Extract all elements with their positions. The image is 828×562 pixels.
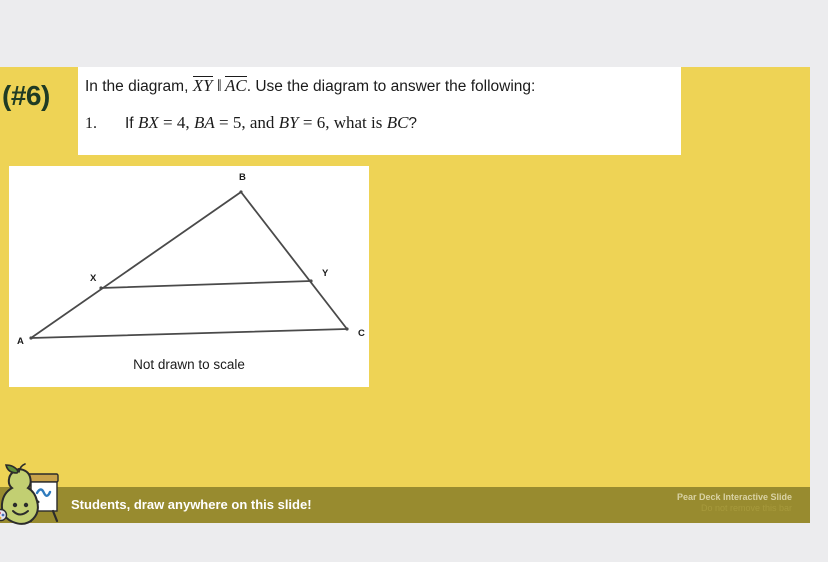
prompt-line-1: In the diagram, XY ‖ AC. Use the diagram… [85, 76, 535, 96]
prompt-line-2: 1.If BX = 4, BA = 5, and BY = 6, what is… [85, 113, 417, 133]
diagram-caption: Not drawn to scale [9, 357, 369, 372]
pear-deck-branding: Pear Deck Interactive Slide Do not remov… [677, 492, 792, 515]
pear-deck-brand-title: Pear Deck Interactive Slide [677, 492, 792, 503]
given-ba: BA [194, 113, 215, 132]
diagram-vertex-dot-x [99, 286, 102, 289]
diagram-vertex-dot-y [309, 279, 312, 282]
diagram-label-c: C [358, 328, 365, 339]
prompt-lead-in: In the diagram, [85, 78, 188, 95]
given-bx-value: = 4, [163, 113, 190, 132]
given-by-value: = 6, what is [303, 113, 382, 132]
question-mark: ? [408, 115, 417, 132]
pear-mascot-logo [0, 463, 71, 525]
diagram-label-x: X [90, 273, 97, 284]
target-bc: BC [387, 113, 409, 132]
given-bx: BX [138, 113, 159, 132]
segment-ac: AC [225, 76, 247, 95]
given-by: BY [279, 113, 299, 132]
question-number: (#6) [2, 82, 78, 110]
diagram-edge-xy [101, 281, 311, 288]
pear-deck-bar: Students, draw anywhere on this slide! P… [0, 487, 810, 523]
question-if: If [125, 115, 134, 132]
diagram-vertex-dot-a [29, 336, 32, 339]
question-prompt-card: In the diagram, XY ‖ AC. Use the diagram… [78, 67, 681, 155]
prompt-lead-out: . Use the diagram to answer the followin… [247, 78, 536, 95]
diagram-edge-ab [31, 192, 241, 338]
pear-character-icon [0, 464, 38, 524]
given-ba-value: = 5, and [219, 113, 274, 132]
diagram-edge-ac [31, 329, 347, 338]
pear-deck-message: Students, draw anywhere on this slide! [71, 497, 312, 512]
triangle-diagram: ABCXY [9, 166, 369, 356]
list-number: 1. [85, 115, 125, 133]
diagram-edge-bc [241, 192, 347, 329]
diagram-label-a: A [17, 336, 24, 347]
diagram-vertex-dot-b [239, 190, 242, 193]
diagram-card: ABCXY Not drawn to scale [9, 166, 369, 387]
diagram-vertex-dot-c [345, 327, 348, 330]
diagram-vertex-labels: ABCXY [17, 172, 365, 347]
diagram-label-b: B [239, 172, 246, 183]
parallel-symbol: ‖ [217, 76, 221, 95]
diagram-edges [31, 192, 347, 338]
diagram-label-y: Y [322, 268, 329, 279]
segment-xy: XY [193, 76, 213, 95]
pear-deck-brand-subtitle: Do not remove this bar [677, 503, 792, 514]
